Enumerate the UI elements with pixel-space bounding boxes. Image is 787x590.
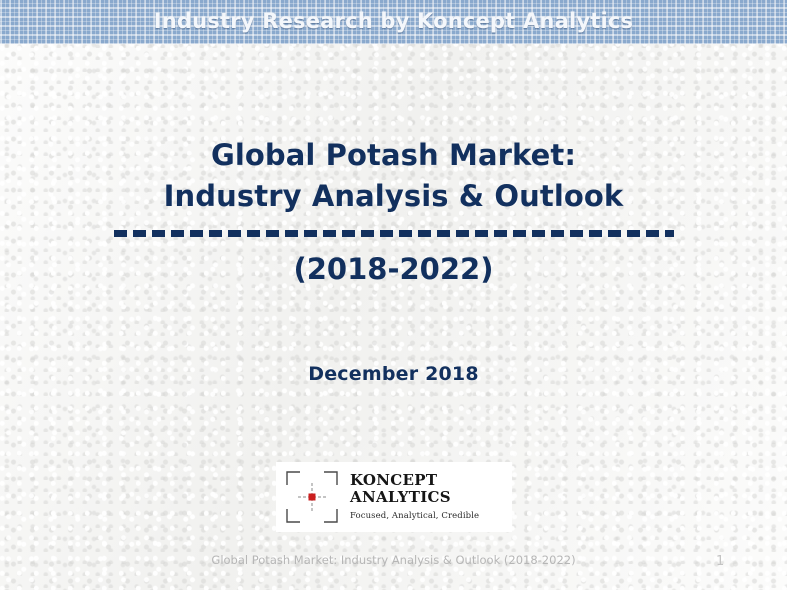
report-date: December 2018 xyxy=(0,363,787,385)
logo-word-analytics: ANALYTICS xyxy=(350,489,479,506)
page-number: 1 xyxy=(716,554,756,569)
slide-canvas: Industry Research by Koncept Analytics G… xyxy=(0,0,787,590)
logo-word-koncept: KONCEPT xyxy=(350,472,479,489)
page-title-line-1: Global Potash Market: xyxy=(0,135,787,176)
header-banner-title: Industry Research by Koncept Analytics xyxy=(154,9,633,33)
company-logo: KONCEPT ANALYTICS Focused, Analytical, C… xyxy=(276,462,512,532)
logo-tagline: Focused, Analytical, Credible xyxy=(350,510,479,522)
crosshair-target-icon xyxy=(284,469,340,525)
page-title-line-2: Industry Analysis & Outlook xyxy=(0,176,787,217)
header-banner: Industry Research by Koncept Analytics xyxy=(0,0,787,44)
logo-wordmark: KONCEPT ANALYTICS Focused, Analytical, C… xyxy=(350,472,479,522)
title-dashed-divider xyxy=(114,230,674,237)
title-block: Global Potash Market: Industry Analysis … xyxy=(0,135,787,288)
footer-note: Global Potash Market: Industry Analysis … xyxy=(0,553,787,567)
report-period: (2018-2022) xyxy=(0,250,787,288)
